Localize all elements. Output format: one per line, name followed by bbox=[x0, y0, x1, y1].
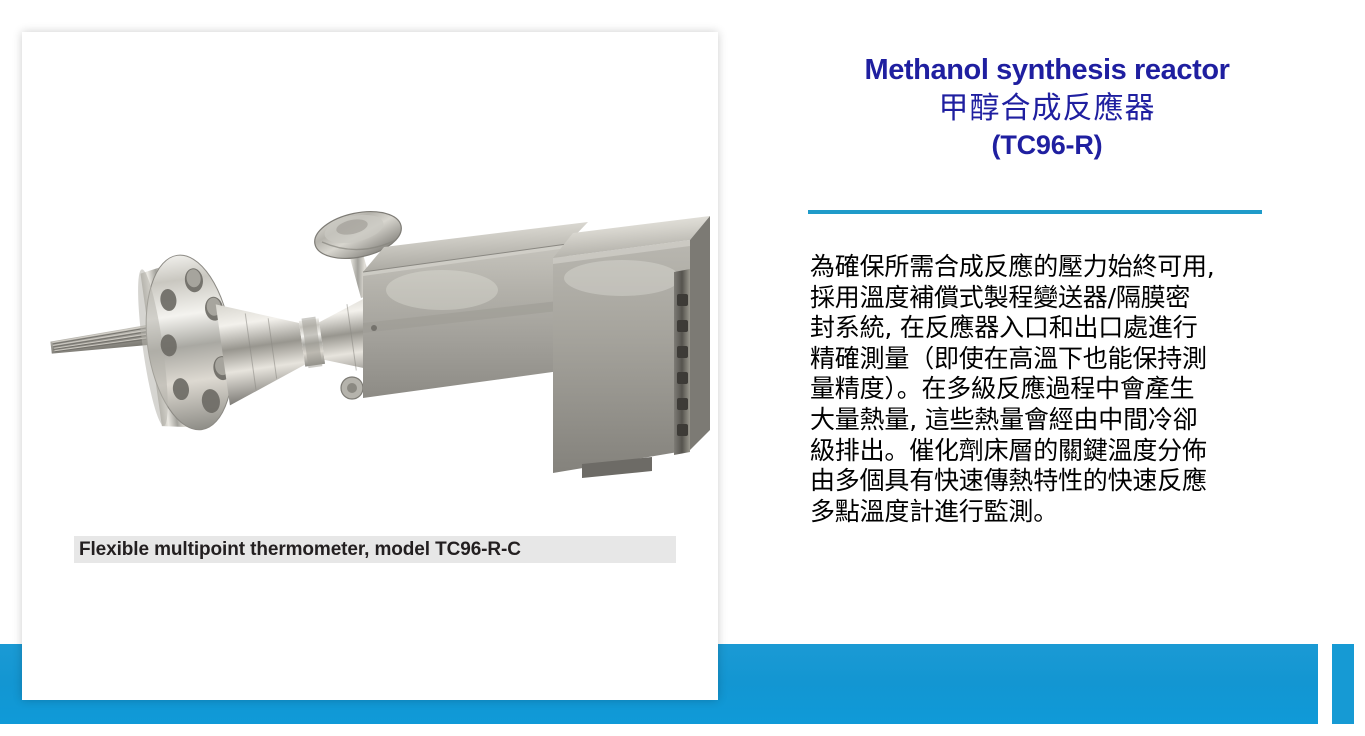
side-port bbox=[341, 377, 363, 399]
enclosure-box-right bbox=[553, 216, 710, 478]
body-paragraph: 為確保所需合成反應的壓力始終可用, 採用溫度補償式製程變送器/隔膜密 封系統, … bbox=[810, 252, 1296, 527]
title-english: Methanol synthesis reactor bbox=[809, 52, 1285, 89]
page-title: Methanol synthesis reactor 甲醇合成反應器 (TC96… bbox=[809, 52, 1285, 163]
title-chinese: 甲醇合成反應器 bbox=[809, 89, 1285, 128]
photo-caption: Flexible multipoint thermometer, model T… bbox=[74, 536, 676, 563]
accent-band-tick bbox=[1332, 644, 1354, 724]
product-photo bbox=[22, 32, 718, 532]
title-model-code: (TC96-R) bbox=[809, 128, 1285, 163]
slide-canvas: Flexible multipoint thermometer, model T… bbox=[0, 0, 1365, 736]
photo-card: Flexible multipoint thermometer, model T… bbox=[22, 32, 718, 700]
photo-caption-text: Flexible multipoint thermometer, model T… bbox=[74, 539, 521, 561]
title-divider-rule bbox=[808, 210, 1262, 214]
product-photo-illustration bbox=[22, 32, 718, 532]
content-column: Methanol synthesis reactor 甲醇合成反應器 (TC96… bbox=[795, 52, 1295, 163]
